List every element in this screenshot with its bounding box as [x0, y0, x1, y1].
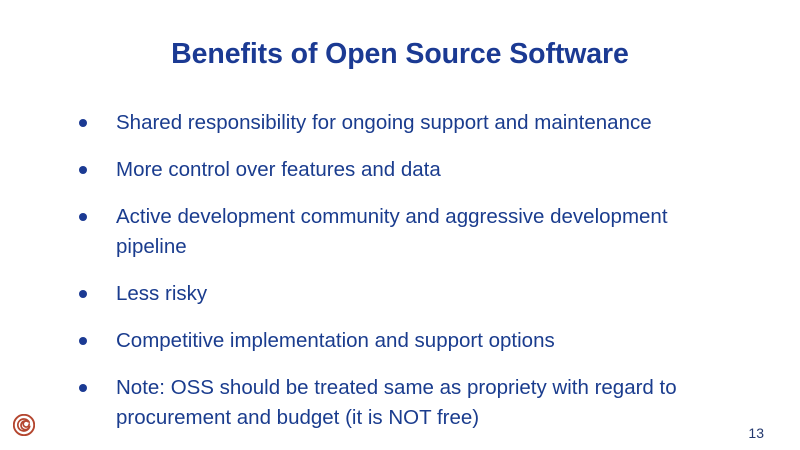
list-item: Competitive implementation and support o…: [76, 326, 724, 356]
list-item-label: Less risky: [116, 279, 724, 309]
bullet-dot-icon: [79, 213, 87, 221]
list-item: Note: OSS should be treated same as prop…: [76, 373, 724, 433]
page-number: 13: [748, 425, 764, 441]
bullet-dot-icon: [79, 384, 87, 392]
bullet-dot-icon: [79, 290, 87, 298]
list-item-label: Note: OSS should be treated same as prop…: [116, 373, 724, 433]
presentation-slide: Benefits of Open Source Software Shared …: [0, 0, 800, 450]
spiral-rose-logo-icon: [13, 414, 35, 436]
list-item-label: Active development community and aggress…: [116, 202, 724, 262]
list-item: Shared responsibility for ongoing suppor…: [76, 108, 724, 138]
bullet-dot-icon: [79, 119, 87, 127]
list-item: More control over features and data: [76, 155, 724, 185]
bullet-list: Shared responsibility for ongoing suppor…: [76, 108, 724, 433]
bullet-dot-icon: [79, 337, 87, 345]
list-item-label: Competitive implementation and support o…: [116, 326, 724, 356]
list-item-label: More control over features and data: [116, 155, 724, 185]
list-item: Less risky: [76, 279, 724, 309]
list-item: Active development community and aggress…: [76, 202, 724, 262]
bullet-dot-icon: [79, 166, 87, 174]
list-item-label: Shared responsibility for ongoing suppor…: [116, 108, 724, 138]
page-title: Benefits of Open Source Software: [40, 38, 760, 71]
